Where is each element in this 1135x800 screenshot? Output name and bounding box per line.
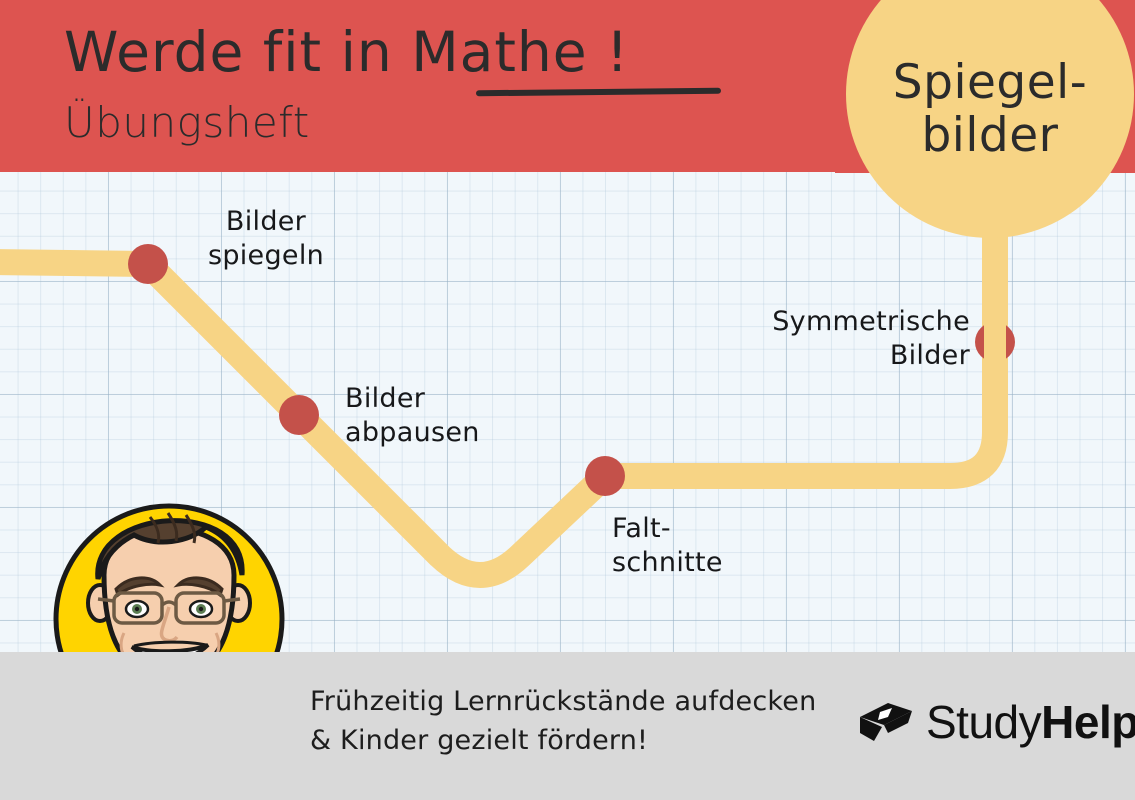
page-title: Werde fit in Mathe !	[64, 20, 629, 84]
journey-node-faltschnitte[interactable]	[585, 456, 625, 496]
journey-label-bilder-spiegeln: Bilder spiegeln	[200, 205, 332, 274]
journey-node-bilder-abpausen[interactable]	[279, 395, 319, 435]
brand-name-light: Study	[926, 696, 1041, 748]
topic-bubble-label: Spiegel- bilder	[893, 57, 1087, 162]
brand-wordmark: StudyHelp	[926, 695, 1135, 749]
page-subtitle: Übungsheft	[64, 98, 310, 147]
journey-label-faltschnitte: Falt- schnitte	[612, 512, 772, 581]
poster-canvas: Bilder spiegeln Bilder abpausen Falt- sc…	[0, 0, 1135, 800]
graduation-cap-icon	[858, 701, 914, 743]
page-title-text: Werde fit in Mathe !	[64, 20, 629, 84]
journey-label-symmetrische-bilder: Symmetrische Bilder	[770, 305, 970, 374]
footer-tagline: Frühzeitig Lernrückstände aufdecken & Ki…	[310, 682, 816, 760]
journey-node-bilder-spiegeln[interactable]	[128, 244, 168, 284]
brand-name-bold: Help	[1041, 696, 1135, 748]
journey-label-bilder-abpausen: Bilder abpausen	[345, 382, 505, 451]
brand-logo[interactable]: StudyHelp	[858, 695, 1135, 749]
